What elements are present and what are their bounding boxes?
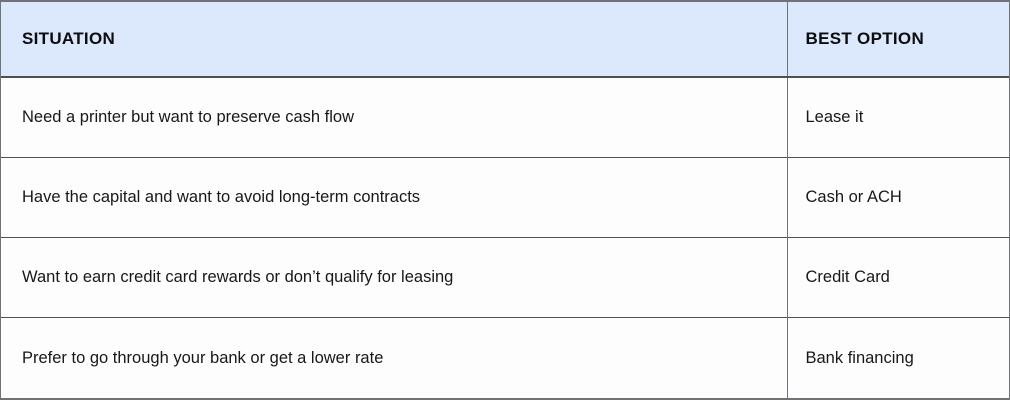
cell-situation: Want to earn credit card rewards or don’… [1,238,787,318]
cell-best-option: Credit Card [787,238,1009,318]
table-body: Need a printer but want to preserve cash… [1,77,1009,398]
column-header-best-option: BEST OPTION [787,2,1009,77]
table-row: Need a printer but want to preserve cash… [1,77,1009,157]
cell-best-option: Bank financing [787,318,1009,398]
table-row: Prefer to go through your bank or get a … [1,318,1009,398]
payment-options-comparison-table: SITUATION BEST OPTION Need a printer but… [1,2,1009,398]
table-row: Have the capital and want to avoid long-… [1,157,1009,237]
cell-situation: Have the capital and want to avoid long-… [1,157,787,237]
cell-best-option: Cash or ACH [787,157,1009,237]
cell-best-option: Lease it [787,77,1009,157]
table-header-row: SITUATION BEST OPTION [1,2,1009,77]
table-header: SITUATION BEST OPTION [1,2,1009,77]
column-header-situation: SITUATION [1,2,787,77]
table-row: Want to earn credit card rewards or don’… [1,238,1009,318]
cell-situation: Need a printer but want to preserve cash… [1,77,787,157]
comparison-table-container: SITUATION BEST OPTION Need a printer but… [0,0,1010,400]
cell-situation: Prefer to go through your bank or get a … [1,318,787,398]
